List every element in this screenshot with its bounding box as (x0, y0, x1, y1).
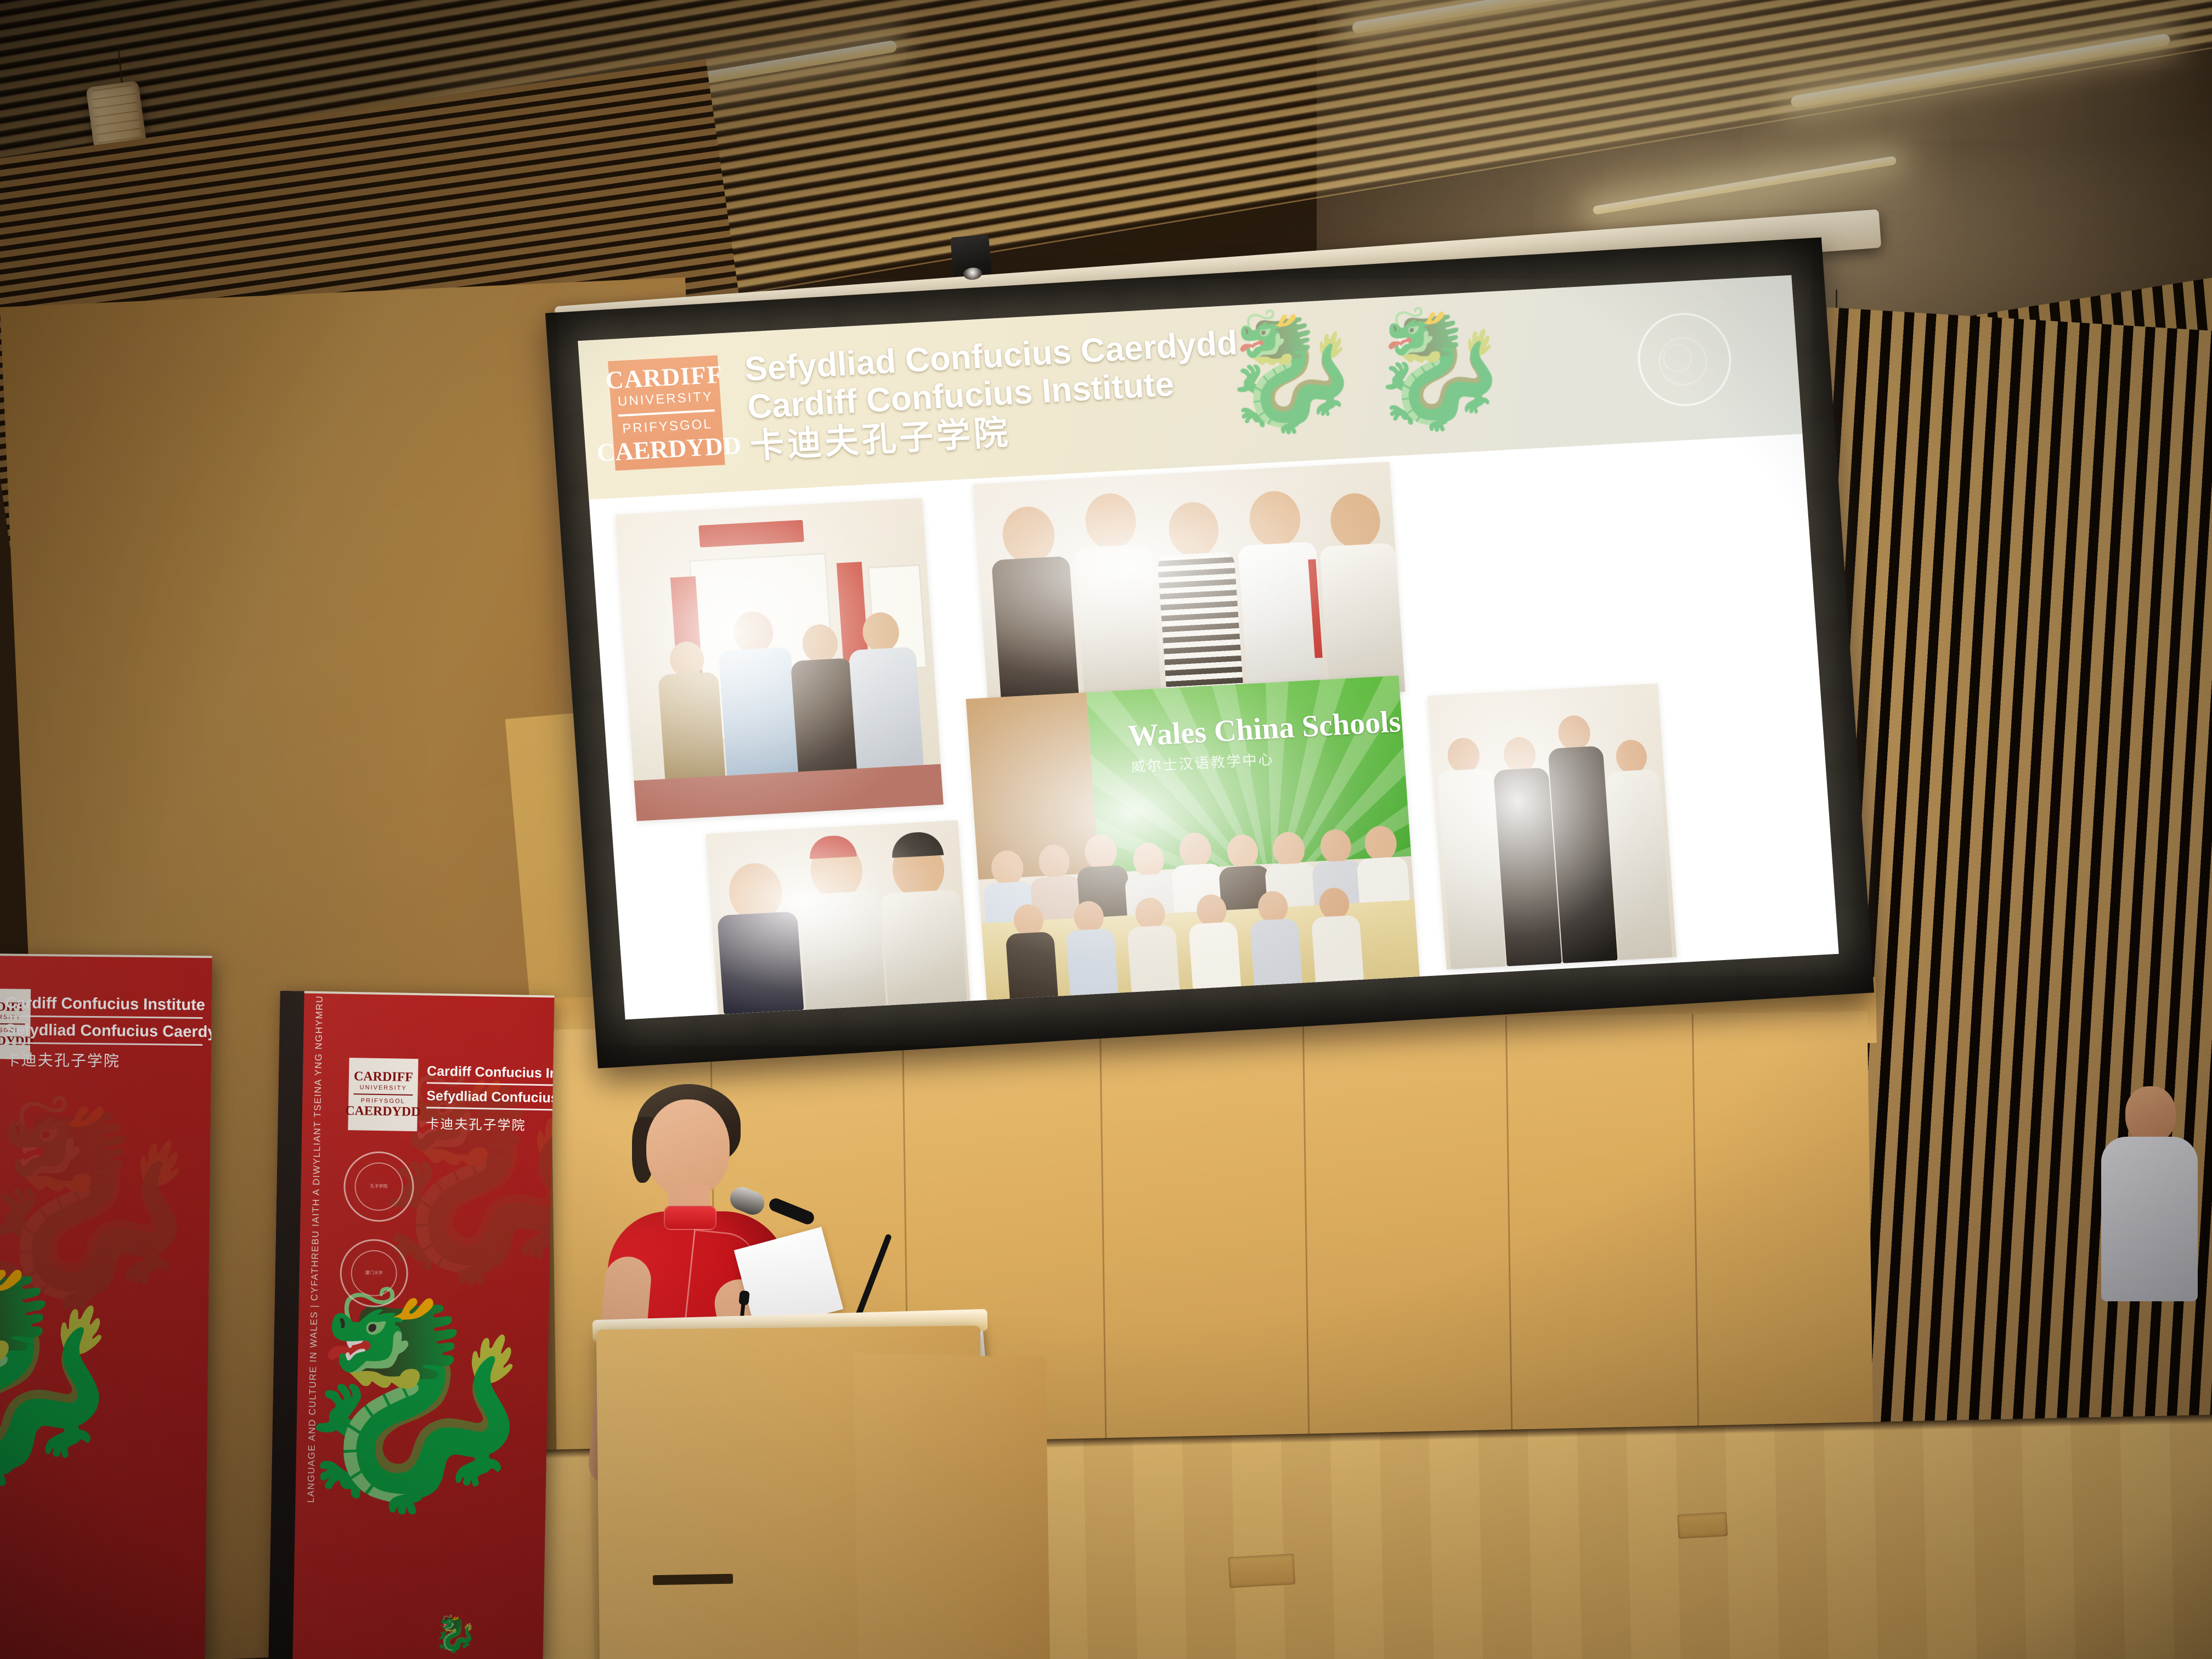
logo-line-caerdydd: CAERDYDD (596, 431, 742, 467)
slide-title-block: Sefydliad Confucius Caerdydd Cardiff Con… (743, 324, 1244, 467)
confucius-institute-seal-icon: 孔子学院 (343, 1151, 414, 1222)
seal-inner: 厦门大学 (351, 1250, 398, 1297)
logo-line-university: UNIVERSITY (360, 1084, 407, 1091)
banner-left: 🐉 🐉 CARDIFF UNIVERSITY PRIFYSGOL CAERDYD… (0, 953, 212, 1659)
logo-line-cardiff: CARDIFF (354, 1069, 413, 1085)
banner-text-rule (5, 1042, 202, 1046)
banner-right-line-chinese: 卡迪夫孔子学院 (426, 1113, 554, 1136)
seal-inner: 孔子学院 (354, 1162, 403, 1211)
slide-photo-large-group: Wales China Schools 威尔士汉语教学中心 (966, 675, 1420, 1005)
person-standing-right (2096, 1086, 2200, 1393)
banner-text-rule (426, 1107, 555, 1112)
lecture-theatre-photo: 🐉 🐉 CARDIFF UNIVERSITY PRIFYSGOL CAERDYD… (0, 0, 2212, 1659)
banner-right-line-english: Cardiff Confucius Institute (427, 1063, 555, 1083)
banner-dragon-watermark-icon: 🐉 (0, 1118, 210, 1289)
lectern-handle-slot (653, 1574, 733, 1585)
lectern-side-panel (854, 1353, 1050, 1659)
banner-left-text-block: Cardiff Confucius Institute Sefydliad Co… (5, 994, 203, 1072)
slide-photo-group-doorway (615, 498, 943, 821)
logo-divider (353, 1093, 413, 1096)
banner-right-line-welsh: Sefydliad Confucius Caerdydd (426, 1088, 554, 1108)
strip-light (1593, 156, 1897, 215)
person-head (2125, 1086, 2176, 1143)
banner-right-text-block: Cardiff Confucius Institute Sefydliad Co… (426, 1063, 554, 1136)
logo-line-caerdydd: CAERDYDD (345, 1104, 421, 1120)
banner-left-line-welsh: Sefydliad Confucius Caerdydd (5, 1021, 202, 1041)
cardiff-university-logo: CARDIFF UNIVERSITY PRIFYSGOL CAERDYDD (608, 356, 725, 471)
banner-text-rule (427, 1082, 555, 1087)
confucius-institute-swirl-icon (1635, 311, 1735, 409)
person-shirt (2101, 1137, 2198, 1301)
banner-right: LANGUAGE AND CULTURE IN WALES | CYFATHRE… (268, 991, 554, 1659)
speaker-head (646, 1099, 730, 1197)
presentation-slide: 🐉 🐉 CARDIFF UNIVERSITY PRIFYSGOL CAERDYD… (578, 275, 1839, 1020)
banner-left-line-english: Cardiff Confucius Institute (5, 994, 203, 1014)
welsh-dragon-icon: 🐉 (433, 1613, 478, 1655)
logo-divider (618, 409, 715, 417)
slide-photo-collage: Wales China Schools 威尔士汉语教学中心 (589, 434, 1838, 1019)
speaker-collar (664, 1206, 716, 1230)
banner-dragon-gold-icon: 🐉 (0, 1282, 134, 1462)
banner-text-rule (5, 1015, 203, 1019)
slide-photo-four-standing (1427, 684, 1677, 969)
banner-edge-text: LANGUAGE AND CULTURE IN WALES | CYFATHRE… (303, 1163, 323, 1503)
floor-service-box (1677, 1512, 1728, 1539)
slide-photo-three-portraits (706, 820, 970, 1014)
dragon-silhouette-blue-icon: 🐉 (1362, 307, 1514, 430)
banner-left-line-chinese: 卡迪夫孔子学院 (5, 1048, 202, 1072)
projector-spotlight-icon (950, 234, 992, 277)
xiamen-university-seal-icon: 厦门大学 (340, 1239, 409, 1308)
cardiff-university-logo: CARDIFF UNIVERSITY PRIFYSGOL CAERDYDD (348, 1058, 418, 1131)
banner-dragon-gold-icon: 🐉 (283, 1309, 545, 1491)
floor-service-box (1228, 1554, 1295, 1588)
slide-photo-five-women (973, 462, 1405, 714)
